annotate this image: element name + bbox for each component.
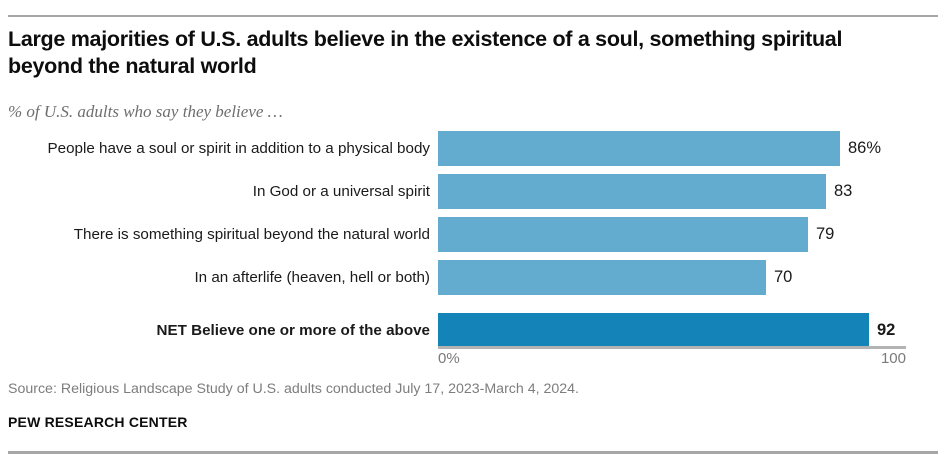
bar-track: 86% xyxy=(438,131,906,166)
x-axis-tick-end: 100 xyxy=(881,350,906,367)
bar xyxy=(438,131,840,166)
bar-value-label: 86% xyxy=(848,131,881,166)
x-axis-line xyxy=(438,346,906,349)
category-label: There is something spiritual beyond the … xyxy=(8,217,430,252)
brand-label: PEW RESEARCH CENTER xyxy=(8,414,188,430)
source-note: Source: Religious Landscape Study of U.S… xyxy=(8,381,579,397)
bar-track: 79 xyxy=(438,217,906,252)
bar-row: In God or a universal spirit 83 xyxy=(0,174,946,209)
bar-track: 83 xyxy=(438,174,906,209)
bar xyxy=(438,174,826,209)
bar xyxy=(438,217,808,252)
chart-figure: Large majorities of U.S. adults believe … xyxy=(0,0,946,474)
bar-net xyxy=(438,313,869,348)
bar-track: 92 xyxy=(438,313,906,348)
x-axis-tick-start: 0% xyxy=(438,350,460,367)
bar-row: In an afterlife (heaven, hell or both) 7… xyxy=(0,260,946,295)
bar-row: People have a soul or spirit in addition… xyxy=(0,131,946,166)
bar-value-label: 70 xyxy=(774,260,792,295)
bar-value-label: 83 xyxy=(834,174,852,209)
bar-value-label-net: 92 xyxy=(877,313,895,348)
bar xyxy=(438,260,766,295)
bar-value-label: 79 xyxy=(816,217,834,252)
category-label: In God or a universal spirit xyxy=(8,174,430,209)
bar-row: There is something spiritual beyond the … xyxy=(0,217,946,252)
category-label: People have a soul or spirit in addition… xyxy=(8,131,430,166)
bar-chart-plot: People have a soul or spirit in addition… xyxy=(0,131,946,346)
chart-subtitle: % of U.S. adults who say they believe … xyxy=(8,102,283,122)
bottom-divider xyxy=(8,451,938,454)
top-divider xyxy=(8,15,938,17)
category-label: In an afterlife (heaven, hell or both) xyxy=(8,260,430,295)
chart-title: Large majorities of U.S. adults believe … xyxy=(8,26,888,80)
bar-row-net: NET Believe one or more of the above 92 xyxy=(0,313,946,348)
bar-track: 70 xyxy=(438,260,906,295)
category-label-net: NET Believe one or more of the above xyxy=(8,313,430,348)
